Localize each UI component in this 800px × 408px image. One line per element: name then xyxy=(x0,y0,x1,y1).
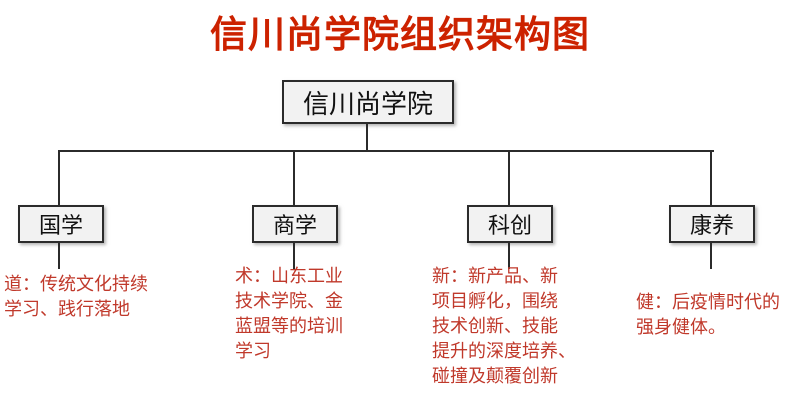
connector-tail-kangyang xyxy=(710,243,712,269)
org-node-guoxue[interactable]: 国学 xyxy=(18,205,104,243)
org-node-guoxue-label: 国学 xyxy=(39,208,83,240)
org-node-shangxue-label: 商学 xyxy=(273,208,317,240)
description-kechuang: 新：新产品、新 项目孵化，围绕 技术创新、技能 提升的深度培养、 碰撞及颠覆创新 xyxy=(432,264,592,389)
page-title: 信川尚学院组织架构图 xyxy=(0,12,800,58)
connector-root-stem xyxy=(366,124,368,151)
connector-bus-bar xyxy=(58,150,714,152)
org-node-root[interactable]: 信川尚学院 xyxy=(282,80,454,124)
org-node-kechuang[interactable]: 科创 xyxy=(467,205,553,243)
description-kangyang: 健：后疫情时代的 强身健体。 xyxy=(636,290,796,340)
org-node-kangyang[interactable]: 康养 xyxy=(669,205,755,243)
connector-drop-shangxue xyxy=(293,151,295,205)
org-node-root-label: 信川尚学院 xyxy=(303,84,433,121)
connector-tail-guoxue xyxy=(58,243,60,269)
org-node-kangyang-label: 康养 xyxy=(690,208,734,240)
description-guoxue: 道：传统文化持续 学习、践行落地 xyxy=(4,272,179,322)
org-chart-canvas: 信川尚学院组织架构图 信川尚学院 国学 商学 科创 康养 道：传统文化持续 学习… xyxy=(0,0,800,408)
description-shangxue: 术：山东工业 技术学院、金 蓝盟等的培训 学习 xyxy=(235,264,365,364)
connector-drop-guoxue xyxy=(58,151,60,205)
connector-drop-kechuang xyxy=(508,151,510,205)
org-node-kechuang-label: 科创 xyxy=(488,208,532,240)
org-node-shangxue[interactable]: 商学 xyxy=(252,205,338,243)
connector-drop-kangyang xyxy=(710,151,712,205)
